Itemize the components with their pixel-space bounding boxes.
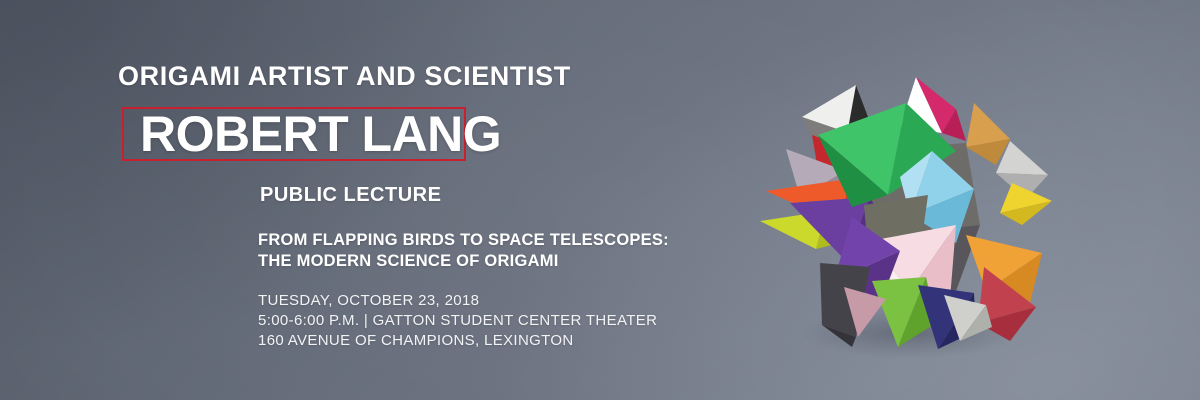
event-date: TUESDAY, OCTOBER 23, 2018 [258,291,657,311]
lecture-title-line-1: FROM FLAPPING BIRDS TO SPACE TELESCOPES: [258,230,669,251]
origami-sculpture-illustration [760,55,1060,365]
event-details: TUESDAY, OCTOBER 23, 2018 5:00-6:00 P.M.… [258,291,657,351]
lecture-label: PUBLIC LECTURE [260,184,441,207]
lecture-title: FROM FLAPPING BIRDS TO SPACE TELESCOPES:… [258,230,669,272]
text-block: ORIGAMI ARTIST AND SCIENTIST ROBERT LANG… [0,0,700,400]
speaker-name: ROBERT LANG [140,108,470,160]
event-address: 160 AVENUE OF CHAMPIONS, LEXINGTON [258,331,657,351]
kicker-heading: ORIGAMI ARTIST AND SCIENTIST [118,62,571,90]
event-time-venue: 5:00-6:00 P.M. | GATTON STUDENT CENTER T… [258,311,657,331]
event-banner: ORIGAMI ARTIST AND SCIENTIST ROBERT LANG… [0,0,1200,400]
origami-sculpture [760,55,1060,365]
lecture-title-line-2: THE MODERN SCIENCE OF ORIGAMI [258,251,669,272]
